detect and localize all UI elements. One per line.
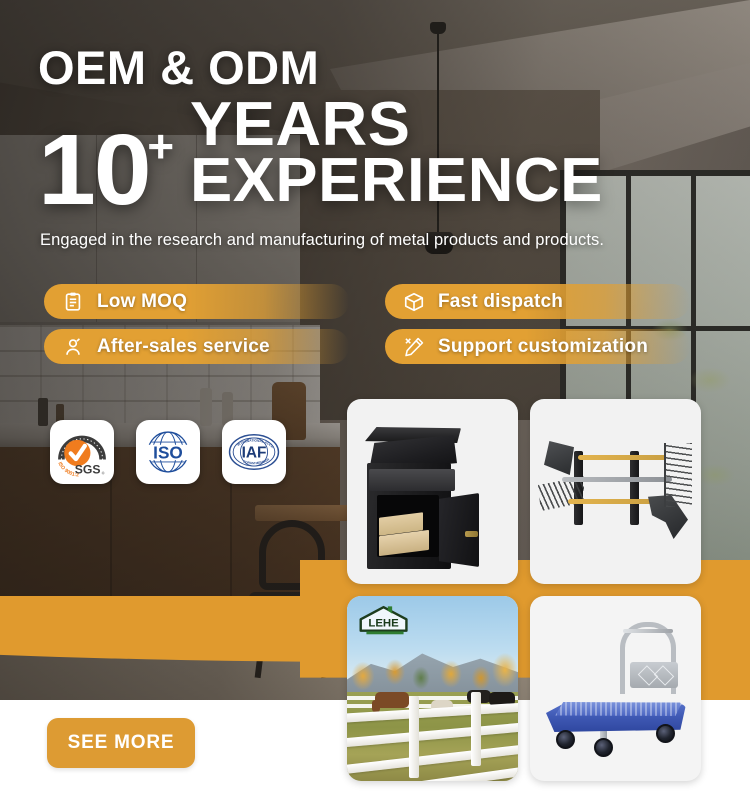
platform-hand-truck-illustration bbox=[542, 618, 692, 768]
iso-badge-icon: ISO bbox=[139, 423, 197, 481]
product-card-platform-hand-truck[interactable] bbox=[530, 596, 701, 781]
subtitle-text: Engaged in the research and manufacturin… bbox=[40, 231, 740, 250]
garden-tool-rack-illustration bbox=[538, 433, 693, 553]
product-card-parcel-drop-box[interactable] bbox=[347, 399, 518, 584]
fence-post bbox=[409, 696, 419, 778]
feature-pill-row: After-sales service Support customizatio… bbox=[44, 329, 714, 364]
parcel-drop-box-illustration bbox=[361, 415, 501, 573]
feature-pill-row: Low MOQ Fast dispatch bbox=[44, 284, 714, 319]
feature-pill-label: After-sales service bbox=[97, 336, 270, 358]
feature-pill-label: Support customization bbox=[438, 336, 648, 358]
promo-banner: OEM & ODM 10 + YEARS EXPERIENCE Engaged … bbox=[0, 0, 750, 812]
feature-pill-label: Low MOQ bbox=[97, 291, 187, 313]
trolley-deck-surface bbox=[550, 702, 682, 716]
svg-text:LEHE: LEHE bbox=[368, 617, 399, 629]
shovel-head-icon bbox=[544, 441, 574, 475]
years-headline-row: 10 + YEARS EXPERIENCE bbox=[38, 97, 728, 213]
product-card-garden-tool-rack[interactable] bbox=[530, 399, 701, 584]
product-card-vinyl-ranch-fence[interactable]: LEHE bbox=[347, 596, 518, 781]
trolley-wheel bbox=[656, 724, 675, 743]
certification-badge-iaf: INTERNATIONAL ACCREDITATION FORUM MEMBER… bbox=[222, 420, 286, 484]
svg-text:®: ® bbox=[102, 472, 105, 476]
feature-pill-fast-dispatch[interactable]: Fast dispatch bbox=[385, 284, 690, 319]
years-plus-sign: + bbox=[147, 126, 174, 166]
trolley-wheel bbox=[594, 738, 613, 757]
mailbox-slot bbox=[369, 469, 455, 491]
certification-badge-iso: ISO bbox=[136, 420, 200, 484]
trolley-wheel bbox=[556, 730, 575, 749]
feature-pill-label: Fast dispatch bbox=[438, 291, 563, 313]
feature-pill-after-sales-service[interactable]: After-sales service bbox=[44, 329, 349, 364]
rake-head-icon bbox=[664, 443, 692, 507]
see-more-button[interactable]: SEE MORE bbox=[47, 718, 195, 768]
mailbox-lock bbox=[465, 531, 478, 537]
lehe-logo-watermark: LEHE bbox=[356, 605, 414, 635]
pencil-tools-icon bbox=[403, 336, 425, 358]
clipboard-icon bbox=[62, 291, 84, 313]
years-experience-text: YEARS EXPERIENCE bbox=[190, 97, 739, 209]
headline-block: OEM & ODM 10 + YEARS EXPERIENCE bbox=[38, 44, 728, 213]
trolley-handle-plate bbox=[630, 662, 678, 688]
box-icon bbox=[403, 291, 425, 313]
tool-handle bbox=[562, 477, 672, 482]
fence-post bbox=[471, 692, 481, 766]
sgs-badge-icon: ISO 9001:2000 SGS ® bbox=[52, 422, 112, 482]
svg-text:SGS: SGS bbox=[75, 463, 101, 477]
horse-brown bbox=[375, 692, 409, 708]
product-image-grid: LEHE bbox=[347, 399, 713, 803]
feature-pill-support-customization[interactable]: Support customization bbox=[385, 329, 690, 364]
eyebrow-text: OEM & ODM bbox=[38, 44, 728, 91]
svg-text:IAF: IAF bbox=[242, 444, 267, 461]
user-service-icon bbox=[62, 336, 84, 358]
tool-handle bbox=[578, 455, 666, 460]
feature-pill-low-moq[interactable]: Low MOQ bbox=[44, 284, 349, 319]
svg-text:ISO: ISO bbox=[153, 442, 183, 462]
years-number: 10 bbox=[38, 127, 150, 213]
iaf-badge-icon: INTERNATIONAL ACCREDITATION FORUM MEMBER… bbox=[225, 423, 283, 481]
feature-pill-group: Low MOQ Fast dispatch bbox=[44, 284, 714, 374]
certification-badge-group: ISO 9001:2000 SGS ® ISO bbox=[50, 420, 286, 484]
mailbox-door bbox=[439, 493, 479, 567]
rack-mount-bracket bbox=[630, 451, 639, 525]
certification-badge-sgs: ISO 9001:2000 SGS ® bbox=[50, 420, 114, 484]
